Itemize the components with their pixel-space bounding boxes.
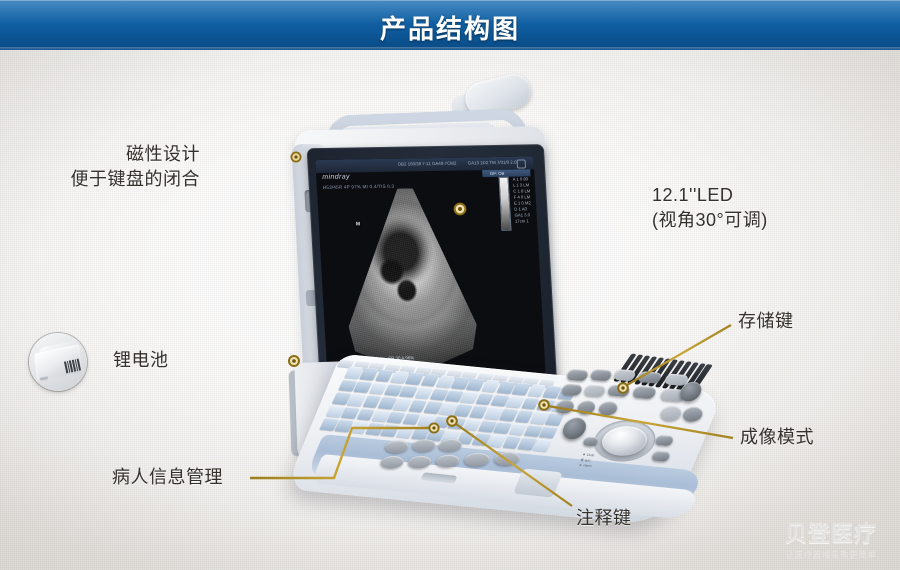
control-button[interactable]	[654, 435, 674, 446]
ultrasound-image-noise	[341, 187, 479, 365]
control-button-round[interactable]	[554, 399, 576, 414]
watermark: 贝登医疗 让医疗器械采购更简单	[770, 516, 892, 560]
label-lithium-battery: 锂电池	[113, 348, 203, 373]
mindray-logo: mindray	[322, 173, 350, 180]
label-magnetic-design: 磁性设计 便于键盘的闭合	[50, 142, 200, 192]
label-patient-info: 病人信息管理	[112, 465, 252, 490]
led-indicator-group: Dual B/C Harm	[578, 452, 618, 473]
control-button-round[interactable]	[576, 400, 598, 415]
front-button[interactable]	[433, 454, 462, 469]
lithium-battery-inset-photo	[29, 333, 87, 391]
control-button[interactable]	[583, 384, 607, 396]
front-button[interactable]	[461, 452, 493, 468]
label-storage-key: 存储键	[738, 309, 848, 334]
front-button[interactable]	[409, 438, 438, 453]
control-button[interactable]	[631, 386, 657, 400]
display-info-center: OB2 100/39 7-11 GA48-7CM2	[398, 161, 457, 167]
watermark-brand: 贝登医疗	[770, 516, 892, 548]
control-button[interactable]	[589, 369, 613, 381]
control-button[interactable]	[607, 384, 632, 397]
display-info-left: H53/45R 4P 97% MI 0.4/TIS 0.3	[323, 184, 395, 190]
control-button[interactable]	[561, 383, 584, 395]
label-imaging-mode: 成像模式	[740, 425, 870, 450]
display-marker: M	[355, 221, 362, 227]
control-button-round[interactable]	[681, 406, 705, 422]
control-button[interactable]	[651, 451, 671, 462]
front-button[interactable]	[491, 451, 523, 467]
display-status-icon	[517, 159, 527, 168]
control-button[interactable]	[637, 371, 663, 384]
control-button[interactable]	[613, 369, 637, 381]
front-button[interactable]	[382, 439, 411, 454]
gain-knob[interactable]	[560, 417, 589, 440]
front-button[interactable]	[378, 455, 407, 470]
label-led-display: 12.1''LED (视角30°可调)	[652, 183, 852, 233]
display-grayscale-bar	[499, 177, 512, 231]
header-bar: 产品结构图	[0, 0, 900, 50]
display-readout: A 1 0 80 L 1 3 LM C 1 8 LM F 4 0 LM E 1 …	[513, 176, 533, 224]
display-parameter-title: OP: OB	[490, 170, 505, 175]
label-annotation-key: 注释键	[576, 506, 686, 531]
control-button-round[interactable]	[597, 401, 620, 416]
product-structure-diagram: 产品结构图 OB2 100/39 7-11 GA48-7CM2 GA13 1D2…	[0, 0, 900, 570]
watermark-slogan: 让医疗器械采购更简单	[770, 549, 892, 561]
ultrasound-machine-illustration: OB2 100/39 7-11 GA48-7CM2 GA13 1D2 TM 7/…	[250, 70, 720, 500]
display-info-right: GA13 1D2 TM 7/01/0 2.0	[468, 160, 517, 166]
front-button[interactable]	[436, 438, 465, 453]
front-button[interactable]	[405, 455, 434, 470]
control-button[interactable]	[566, 369, 590, 381]
control-button-round[interactable]	[659, 405, 684, 421]
page-title: 产品结构图	[0, 9, 900, 46]
